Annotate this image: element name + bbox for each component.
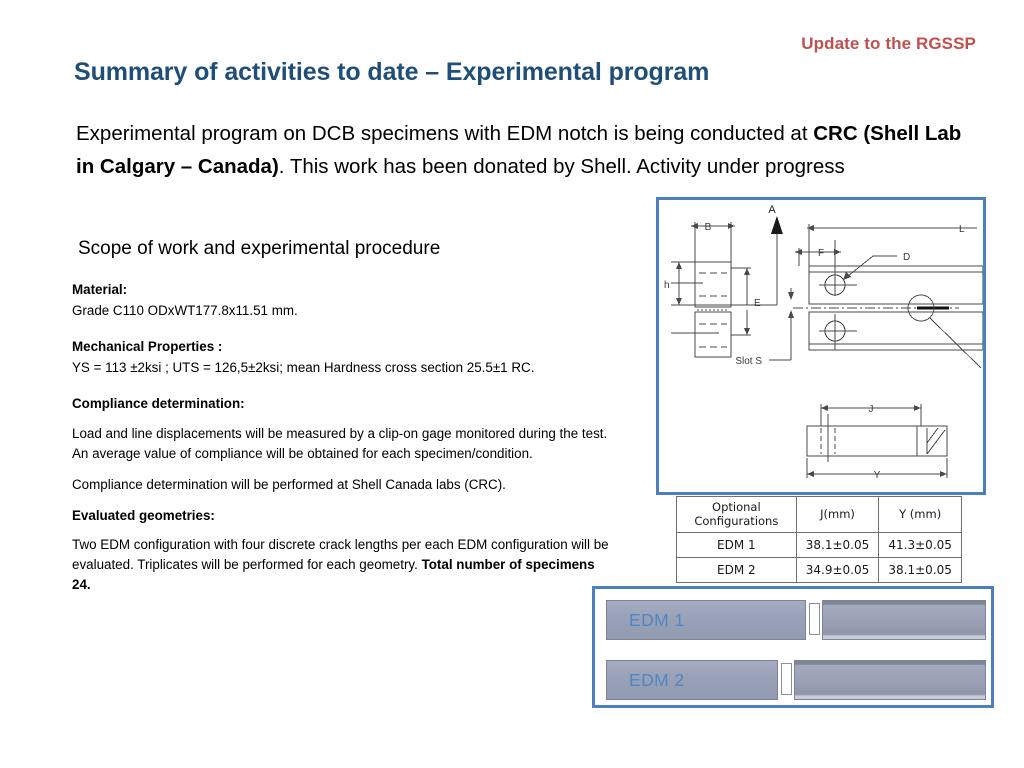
drawing-label-y: Y (874, 470, 881, 481)
drawing-label-slot-s: Slot S (735, 356, 762, 367)
drawing-label-f: F (818, 248, 824, 259)
edm-specimen-render-2: EDM 2 (606, 660, 986, 700)
optional-configurations-table: Optional Configurations J(mm) Y (mm) EDM… (676, 496, 962, 583)
drawing-label-a: A (768, 204, 776, 216)
cell-j-edm1: 38.1±0.05 (796, 533, 879, 558)
table-row: EDM 2 34.9±0.05 38.1±0.05 (677, 558, 962, 583)
edm2-label: EDM 2 (629, 670, 684, 691)
cell-config-edm2: EDM 2 (677, 558, 797, 583)
section-material-heading: Material: (72, 280, 612, 300)
header-line-1: Optional (712, 500, 761, 514)
section-evaluated-geometries: Evaluated geometries: Two EDM configurat… (72, 506, 612, 595)
drawing-label-d: D (903, 252, 910, 263)
section-compliance-text: Load and line displacements will be meas… (72, 424, 612, 464)
body-column: Material: Grade C110 ODxWT177.8x11.51 mm… (72, 280, 612, 606)
page-title: Summary of activities to date – Experime… (74, 58, 709, 87)
edm-specimen-renders-panel: EDM 1 EDM 2 (592, 586, 994, 708)
section-mechanical-properties-text: YS = 113 ±2ksi ; UTS = 126,5±2ksi; mean … (72, 358, 612, 378)
section-compliance-heading: Compliance determination: (72, 394, 612, 414)
section-compliance-location-text: Compliance determination will be perform… (72, 475, 612, 495)
section-compliance-location: Compliance determination will be perform… (72, 475, 612, 495)
edm2-notch-gap (781, 663, 792, 695)
drawing-label-b: B (705, 222, 712, 233)
section-mechanical-properties-heading: Mechanical Properties : (72, 337, 612, 357)
drawing-label-e: E (754, 298, 761, 309)
column-header-y: Y (mm) (879, 497, 962, 533)
edm2-arm-block (794, 660, 986, 700)
lead-paragraph: Experimental program on DCB specimens wi… (76, 117, 976, 183)
cell-config-edm1: EDM 1 (677, 533, 797, 558)
technical-drawing-panel: B h E A Slot S F D L J Y (656, 197, 986, 495)
section-material: Material: Grade C110 ODxWT177.8x11.51 mm… (72, 280, 612, 321)
scope-heading: Scope of work and experimental procedure (78, 238, 440, 260)
drawing-label-h: h (664, 280, 670, 291)
lead-part2: . This work has been donated by Shell. A… (279, 155, 845, 178)
edm1-arm-block (822, 600, 986, 640)
section-material-text: Grade C110 ODxWT177.8x11.51 mm. (72, 301, 612, 321)
cell-y-edm1: 41.3±0.05 (879, 533, 962, 558)
lead-part1: Experimental program on DCB specimens wi… (76, 122, 813, 145)
edm1-label: EDM 1 (629, 610, 684, 631)
column-header-j: J(mm) (796, 497, 879, 533)
section-evaluated-geometries-text: Two EDM configuration with four discrete… (72, 535, 612, 595)
column-header-optional-configurations: Optional Configurations (677, 497, 797, 533)
slide: Update to the RGSSP Summary of activitie… (0, 0, 1024, 768)
table-row: EDM 1 38.1±0.05 41.3±0.05 (677, 533, 962, 558)
edm1-notch-gap (809, 603, 820, 635)
optional-configurations-table-wrapper: Optional Configurations J(mm) Y (mm) EDM… (676, 496, 962, 583)
drawing-label-l: L (959, 224, 965, 235)
table-header-row: Optional Configurations J(mm) Y (mm) (677, 497, 962, 533)
edm1-body-block: EDM 1 (606, 600, 806, 640)
cell-y-edm2: 38.1±0.05 (879, 558, 962, 583)
cell-j-edm2: 34.9±0.05 (796, 558, 879, 583)
section-compliance-determination: Compliance determination: Load and line … (72, 394, 612, 463)
drawing-label-j: J (869, 404, 874, 415)
section-evaluated-geometries-heading: Evaluated geometries: (72, 506, 612, 526)
section-mechanical-properties: Mechanical Properties : YS = 113 ±2ksi ;… (72, 337, 612, 378)
header-line-2: Configurations (694, 514, 778, 528)
edm-specimen-render-1: EDM 1 (606, 600, 986, 640)
kicker-update-to-rgssp: Update to the RGSSP (801, 34, 976, 54)
edm2-body-block: EDM 2 (606, 660, 778, 700)
dcb-specimen-drawing: B h E A Slot S F D L J Y (659, 200, 983, 492)
